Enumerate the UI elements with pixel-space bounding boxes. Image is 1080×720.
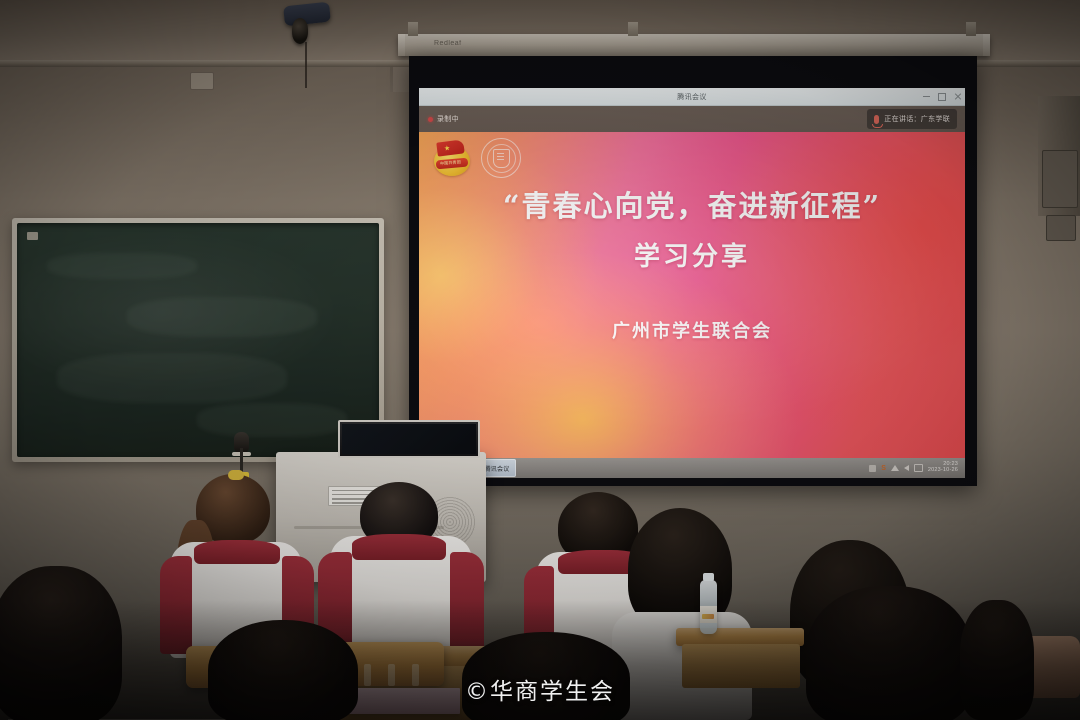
photo-vignette bbox=[0, 0, 1080, 720]
classroom-photo: Redleaf 腾讯会议 录制中 正在讲话：广东学联 bbox=[0, 0, 1080, 720]
watermark: ©华商学生会 bbox=[0, 672, 1080, 706]
